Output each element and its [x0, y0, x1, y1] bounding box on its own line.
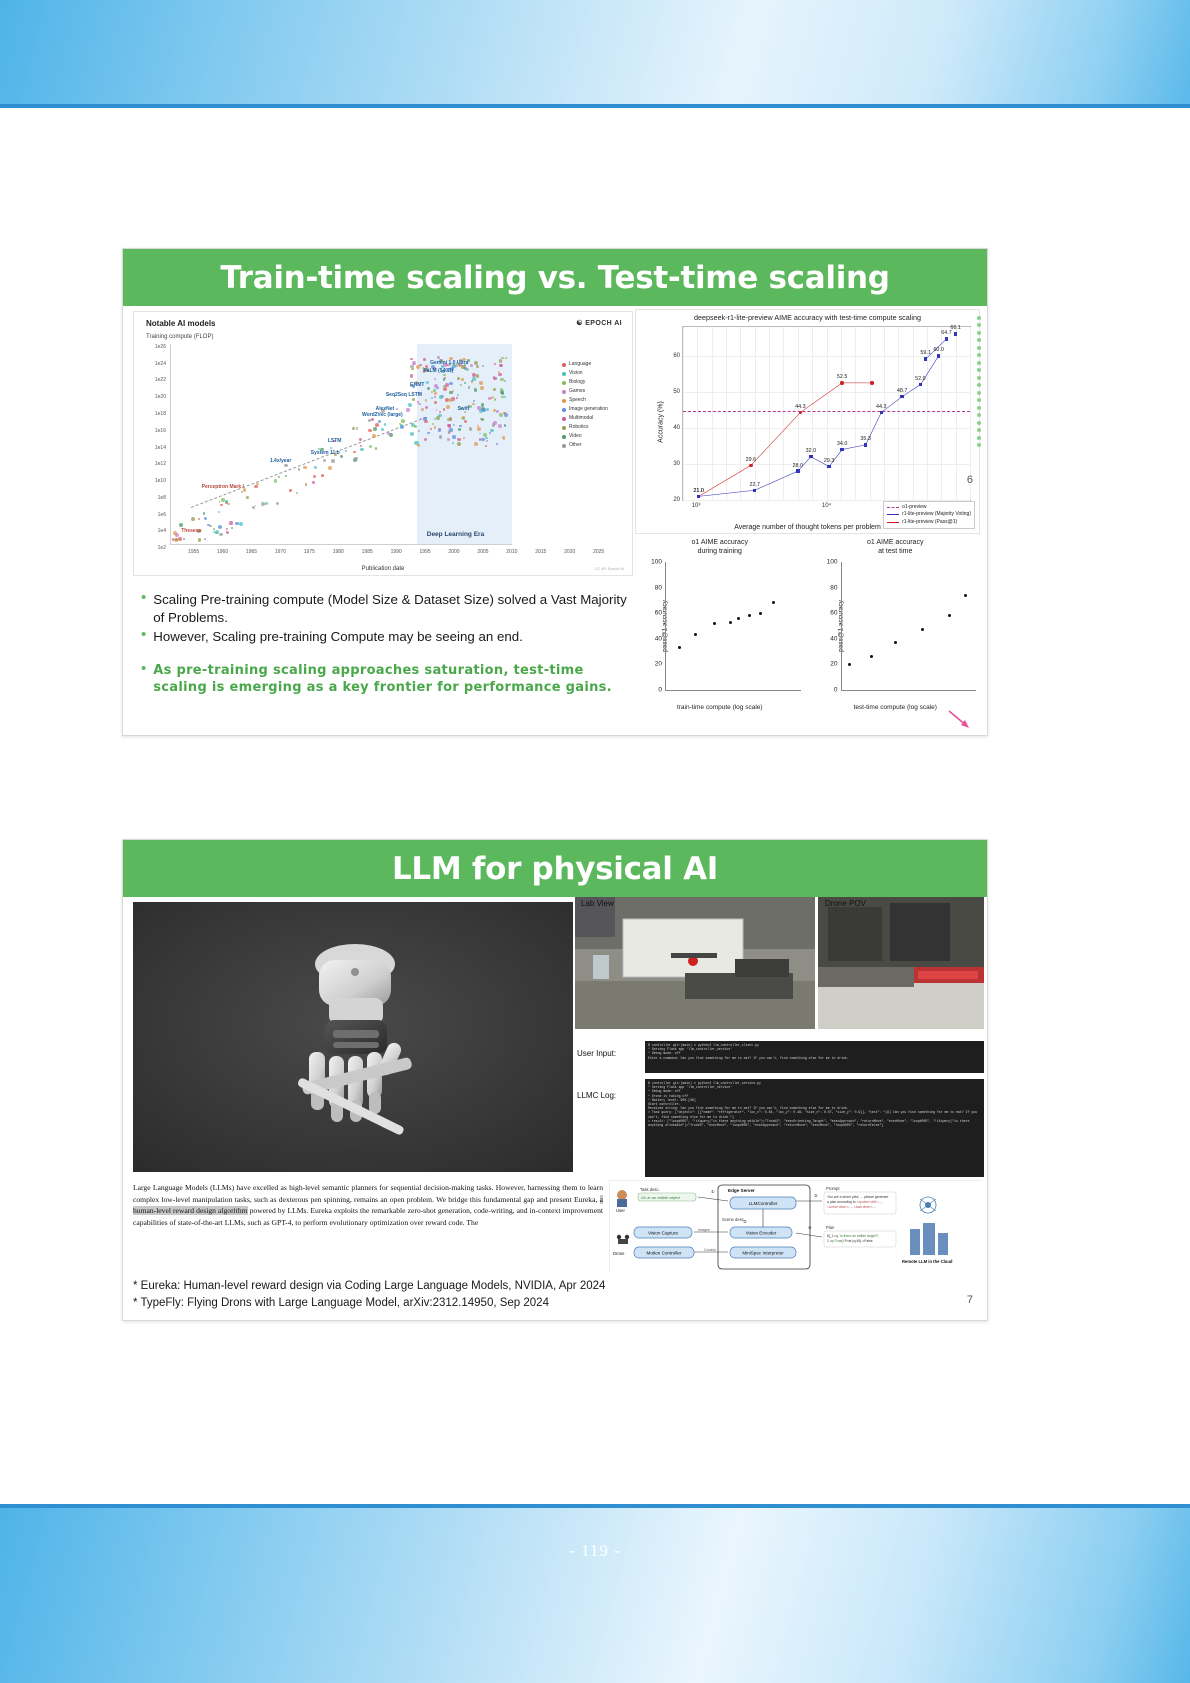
epoch-y-tick: 1e16	[155, 428, 166, 434]
deepseek-y-axis-label: Accuracy (%)	[657, 401, 664, 443]
epoch-legend-item: Video	[562, 432, 626, 441]
epoch-data-point	[226, 531, 229, 534]
epoch-data-point	[476, 374, 480, 378]
epoch-data-point	[369, 445, 372, 448]
epoch-data-point	[411, 368, 414, 371]
legend-color-dot	[562, 363, 566, 367]
typefly-system-diagram: Edge Server LLMController Vision Encoder…	[609, 1180, 981, 1272]
epoch-data-point	[239, 522, 243, 526]
epoch-data-point	[427, 432, 430, 435]
epoch-data-point	[477, 425, 479, 427]
bullet-dot-icon: •	[141, 591, 146, 604]
svg-text:Scene desc.: Scene desc.	[722, 1217, 745, 1222]
o1-y-tick: 100	[651, 559, 662, 566]
epoch-data-point	[375, 423, 379, 427]
epoch-data-point	[472, 403, 474, 405]
epoch-x-tick: 1970	[275, 549, 286, 555]
epoch-data-point	[496, 410, 499, 413]
epoch-data-point	[372, 434, 376, 438]
svg-text:Control: Control	[704, 1248, 716, 1252]
epoch-y-tick-labels: 1e261e241e221e201e181e161e141e121e101e81…	[140, 344, 168, 545]
epoch-data-point	[410, 365, 413, 368]
slide1-body: Notable AI models Training compute (FLOP…	[123, 306, 987, 735]
o1-y-tick: 0	[834, 687, 838, 694]
bullet-dot-icon: •	[141, 628, 146, 641]
llmc-log-label: LLMC Log:	[577, 1091, 616, 1100]
o1-data-point	[713, 622, 716, 625]
epoch-data-point	[470, 364, 473, 367]
deepseek-y-tick: 50	[673, 389, 680, 395]
slide1-title: Train-time scaling vs. Test-time scaling	[220, 260, 889, 296]
data-point	[870, 381, 873, 384]
epoch-data-point	[437, 356, 440, 359]
o1-chart-title: o1 AIME accuracyat test time	[811, 538, 981, 556]
data-point	[937, 354, 940, 357]
deepseek-y-tick: 40	[673, 425, 680, 431]
epoch-data-point	[462, 417, 465, 420]
epoch-data-point	[353, 451, 355, 453]
deep-learning-era-label: Deep Learning Era	[427, 531, 484, 538]
epoch-data-point	[504, 424, 506, 426]
epoch-data-point	[492, 396, 494, 398]
epoch-x-tick: 1965	[246, 549, 257, 555]
epoch-data-point	[219, 533, 223, 537]
epoch-data-point	[198, 538, 202, 542]
deepseek-y-tick: 60	[673, 353, 680, 359]
epoch-data-point	[213, 531, 215, 533]
data-point	[954, 332, 957, 335]
epoch-data-point	[312, 481, 315, 484]
epoch-data-point	[499, 364, 502, 367]
drone-pov-photo	[818, 897, 984, 1029]
deepseek-legend-item: o1-preview	[887, 504, 971, 512]
o1-data-point	[678, 646, 681, 649]
slide2-body: Lab View Drone POV User Input: $ control…	[123, 897, 987, 1320]
epoch-y-tick: 1e2	[158, 545, 166, 551]
svg-text:Plan: Plan	[826, 1225, 835, 1230]
data-point-label: 52.0	[915, 376, 926, 382]
o1-data-point	[964, 594, 967, 597]
drone-pov-label: Drone POV	[825, 899, 866, 908]
epoch-data-point	[482, 408, 486, 412]
epoch-annotation: LSTM	[328, 438, 342, 444]
epoch-data-point	[479, 381, 483, 385]
svg-text:Go to an edible object: Go to an edible object	[641, 1195, 681, 1200]
epoch-data-point	[387, 432, 389, 434]
epoch-data-point	[485, 437, 487, 439]
epoch-data-point	[179, 523, 183, 527]
data-point	[919, 383, 922, 386]
epoch-data-point	[203, 512, 205, 514]
svg-text:Drone: Drone	[613, 1251, 625, 1256]
data-point-label: 52.5	[837, 374, 848, 380]
epoch-ai-logo: ☯ EPOCH AI	[576, 319, 622, 327]
epoch-data-point	[457, 442, 461, 446]
epoch-data-point	[254, 485, 257, 488]
epoch-x-tick: 2015	[535, 549, 546, 555]
deepseek-aime-test-time-chart: deepseek-r1-lite-preview AIME accuracy w…	[635, 309, 980, 534]
epoch-data-point	[457, 377, 460, 380]
epoch-data-point	[296, 492, 298, 494]
epoch-annotation: Theseus	[181, 528, 201, 534]
epoch-data-point	[178, 537, 182, 541]
epoch-y-tick: 1e22	[155, 377, 166, 383]
o1-x-axis-label: train-time compute (log scale)	[635, 704, 805, 711]
epoch-data-point	[328, 466, 332, 470]
svg-text:MiniSpec Interpreter: MiniSpec Interpreter	[742, 1251, 784, 1256]
epoch-data-point	[424, 438, 427, 441]
epoch-data-point	[396, 408, 398, 410]
epoch-annotation: Swift	[457, 406, 469, 412]
epoch-data-point	[373, 427, 377, 431]
o1-chart-title-line1: o1 AIME accuracy	[635, 538, 805, 547]
bullet-text: However, Scaling pre-training Compute ma…	[153, 628, 523, 646]
lab-view-photo	[575, 897, 815, 1029]
epoch-x-tick: 2025	[593, 549, 604, 555]
epoch-y-tick: 1e20	[155, 394, 166, 400]
epoch-data-point	[219, 501, 221, 503]
epoch-data-point	[410, 432, 414, 436]
epoch-x-tick: 1980	[333, 549, 344, 555]
epoch-y-tick: 1e4	[158, 528, 166, 534]
o1-accuracy-chart: o1 AIME accuracyduring trainingpass@1 ac…	[635, 538, 805, 713]
epoch-data-point	[434, 378, 436, 380]
legend-color-dot	[562, 435, 566, 439]
epoch-y-tick: 1e10	[155, 478, 166, 484]
epoch-data-point	[274, 479, 277, 482]
epoch-data-point	[368, 429, 371, 432]
epoch-data-point	[496, 443, 498, 445]
svg-text:②: ②	[814, 1193, 818, 1198]
epoch-data-point	[321, 474, 324, 477]
deepseek-legend: o1-previewr1-lite-preview (Majority Voti…	[883, 501, 975, 530]
epoch-annotation: System 11 b	[311, 450, 340, 456]
data-point-label: 22.7	[750, 482, 761, 488]
slide2-footnotes: * Eureka: Human-level reward design via …	[133, 1278, 833, 1312]
data-point-label: 66.1	[950, 325, 961, 331]
epoch-data-point	[410, 358, 412, 360]
epoch-data-point	[226, 528, 228, 530]
epoch-x-tick: 2020	[564, 549, 575, 555]
legend-label: Language	[569, 360, 591, 369]
epoch-data-point	[423, 417, 426, 420]
epoch-data-point	[448, 430, 451, 433]
epoch-legend-item: Biology	[562, 378, 626, 387]
o1-y-tick: 40	[655, 635, 662, 642]
epoch-data-point	[360, 445, 362, 447]
o1-accuracy-chart: o1 AIME accuracyat test timepass@1 accur…	[811, 538, 981, 713]
svg-text:Edge Server: Edge Server	[728, 1188, 755, 1193]
epoch-data-point	[220, 504, 222, 506]
bullet-item: •However, Scaling pre-training Compute m…	[141, 628, 641, 646]
epoch-annotation: Seq2Seq LSTM	[386, 392, 422, 398]
bullet-text: As pre-training scaling approaches satur…	[153, 662, 641, 697]
data-point-label: 60.0	[933, 347, 944, 353]
epoch-data-point	[356, 428, 358, 430]
epoch-data-point	[464, 420, 467, 423]
data-point-label: 35.3	[860, 436, 871, 442]
slide1-page-label: 6	[967, 474, 973, 486]
o1-y-tick: 100	[827, 559, 838, 566]
epoch-x-tick: 1955	[188, 549, 199, 555]
epoch-data-point	[463, 437, 465, 439]
footnote-line: * TypeFly: Flying Drons with Large Langu…	[133, 1295, 833, 1312]
epoch-data-point	[477, 427, 481, 431]
slide2-header: LLM for physical AI	[123, 840, 987, 897]
epoch-data-point	[323, 459, 327, 463]
page-top-divider	[0, 104, 1190, 108]
deepseek-y-tick: 20	[673, 497, 680, 503]
eureka-abstract-body: Large Language Models (LLMs) have excell…	[133, 1183, 603, 1227]
user-input-label: User Input:	[577, 1049, 616, 1058]
legend-color-dot	[562, 426, 566, 430]
data-point	[945, 337, 948, 340]
epoch-x-tick-labels: 1955196019651970197519801985199019952000…	[170, 549, 622, 559]
svg-text:a plan according to <system sk: a plan according to <system skill>:...,	[827, 1200, 883, 1204]
epoch-data-point	[417, 444, 420, 447]
abstract-highlight: a human-level reward design algorithm	[133, 1195, 603, 1216]
epoch-data-point	[433, 389, 435, 391]
epoch-x-tick: 2005	[477, 549, 488, 555]
epoch-legend-item: Vision	[562, 369, 626, 378]
slide2-title: LLM for physical AI	[392, 851, 718, 887]
o1-chart-title: o1 AIME accuracyduring training	[635, 538, 805, 556]
o1-plot-area: 020406080100	[665, 562, 801, 691]
bullet-dot-icon: •	[141, 662, 146, 675]
epoch-data-point	[446, 405, 450, 409]
epoch-y-tick: 1e12	[155, 461, 166, 467]
epoch-data-point	[284, 464, 288, 468]
epoch-data-point	[331, 459, 335, 463]
epoch-data-point	[303, 466, 307, 470]
epoch-data-point	[500, 388, 503, 391]
epoch-data-point	[426, 381, 429, 384]
epoch-data-point	[458, 428, 461, 431]
legend-label: r1-lite-preview (Majority Voting)	[902, 511, 971, 519]
epoch-data-point	[384, 423, 387, 426]
epoch-legend-item: Games	[562, 387, 626, 396]
svg-text:Images: Images	[698, 1228, 710, 1232]
o1-y-tick: 0	[658, 687, 662, 694]
epoch-data-point	[204, 538, 206, 540]
legend-label: Video	[569, 432, 582, 441]
epoch-data-point	[420, 418, 422, 420]
epoch-data-point	[423, 358, 425, 360]
page-top-decorative-band	[0, 0, 1190, 104]
slide-train-time-vs-test-time: Train-time scaling vs. Test-time scaling…	[122, 248, 988, 736]
epoch-data-point	[276, 502, 279, 505]
epoch-data-point	[498, 424, 502, 428]
epoch-data-point	[285, 475, 287, 477]
epoch-y-tick: 1e14	[155, 445, 166, 451]
epoch-data-point	[305, 483, 307, 485]
epoch-data-point	[381, 428, 384, 431]
o1-data-point	[772, 601, 775, 604]
epoch-legend-item: Multimodal	[562, 414, 626, 423]
data-point	[924, 357, 927, 360]
epoch-x-tick: 1985	[362, 549, 373, 555]
epoch-data-point	[389, 433, 393, 437]
data-point	[796, 469, 799, 472]
o1-y-tick: 80	[830, 584, 837, 591]
o1-data-point	[848, 663, 851, 666]
epoch-data-point	[447, 418, 451, 422]
legend-swatch	[887, 522, 899, 523]
data-point-label: 32.0	[806, 448, 817, 454]
deepseek-legend-item: r1-lite-preview (Pass@1)	[887, 519, 971, 527]
robot-hand-pen-spinning-image	[133, 902, 573, 1172]
o1-data-point	[737, 617, 740, 620]
epoch-data-point	[265, 502, 267, 504]
epoch-data-point	[207, 524, 209, 526]
epoch-data-point	[486, 408, 489, 411]
bullet-text: Scaling Pre-training compute (Model Size…	[153, 591, 641, 626]
o1-data-point	[729, 621, 732, 624]
data-point-label: 29.6	[746, 457, 757, 463]
legend-color-dot	[562, 408, 566, 412]
epoch-x-tick: 2000	[448, 549, 459, 555]
data-point-label: 34.0	[837, 441, 848, 447]
epoch-data-point	[434, 392, 437, 395]
user-input-terminal: $ controller git:(main) x python3 llm_co…	[645, 1041, 984, 1073]
epoch-data-point	[204, 517, 207, 520]
epoch-x-axis-title: Publication date	[134, 566, 632, 572]
o1-data-point	[894, 641, 897, 644]
epoch-data-point	[412, 398, 415, 401]
slide-llm-for-physical-ai: LLM for physical AI	[122, 839, 988, 1321]
epoch-plot-area: Deep Learning Era Gemini 1.0 UltraPaLM (…	[170, 344, 512, 545]
svg-text:Prompt: Prompt	[826, 1186, 840, 1191]
epoch-x-tick: 1960	[217, 549, 228, 555]
epoch-data-point	[252, 506, 255, 509]
epoch-data-point	[313, 475, 316, 478]
slide1-header: Train-time scaling vs. Test-time scaling	[123, 249, 987, 306]
data-point	[880, 411, 883, 414]
svg-text:Remote LLM in the Cloud: Remote LLM in the Cloud	[902, 1259, 953, 1264]
epoch-x-tick: 1990	[391, 549, 402, 555]
epoch-data-point	[314, 466, 317, 469]
epoch-legend: LanguageVisionBiologyGamesSpeechImage ge…	[562, 360, 626, 450]
epoch-legend-item: Robotics	[562, 423, 626, 432]
legend-label: Other	[569, 441, 582, 450]
epoch-data-point	[371, 418, 374, 421]
epoch-data-point	[183, 538, 185, 540]
data-point-label: 29.3	[824, 458, 835, 464]
svg-text:Vision Capture: Vision Capture	[648, 1231, 678, 1236]
o1-y-tick: 40	[830, 635, 837, 642]
epoch-data-point	[439, 435, 442, 438]
epoch-data-point	[434, 426, 436, 428]
epoch-annotation: Perceptron Mark I	[202, 484, 244, 490]
epoch-y-tick: 1e6	[158, 512, 166, 518]
legend-color-dot	[562, 417, 566, 421]
legend-label: o1-preview	[902, 504, 926, 512]
svg-text:8{_1=q, 'is there an edible ta: 8{_1=q, 'is there an edible target?';	[827, 1234, 879, 1238]
slide2-page-label: 7	[967, 1294, 973, 1306]
epoch-data-point	[175, 538, 178, 541]
o1-data-point	[694, 633, 697, 636]
o1-y-tick: 60	[830, 610, 837, 617]
o1-y-tick: 20	[830, 661, 837, 668]
data-point	[749, 464, 752, 467]
data-point	[753, 489, 756, 492]
svg-text:④: ④	[808, 1225, 812, 1230]
o1-data-point	[870, 655, 873, 658]
epoch-data-point	[345, 450, 347, 452]
epoch-data-point	[352, 427, 355, 430]
svg-text:<scene desc>:..., <task desc>:: <scene desc>:..., <task desc>:...	[827, 1205, 876, 1209]
page-bottom-divider	[0, 1504, 1190, 1508]
deepseek-x-tick: 10³	[692, 503, 701, 509]
data-point-label: 59.1	[920, 350, 931, 356]
legend-label: Biology	[569, 378, 585, 387]
epoch-legend-item: Language	[562, 360, 626, 369]
epoch-data-point	[198, 518, 200, 520]
epoch-data-point	[360, 448, 363, 451]
epoch-data-point	[256, 483, 259, 486]
legend-label: Speech	[569, 396, 586, 405]
svg-text:Task desc.: Task desc.	[640, 1187, 660, 1192]
epoch-data-point	[505, 357, 507, 359]
epoch-data-point	[449, 382, 453, 386]
data-point	[840, 381, 843, 384]
svg-text:User: User	[616, 1208, 625, 1213]
epoch-data-point	[225, 500, 227, 502]
legend-color-dot	[562, 390, 566, 394]
slide1-side-dots	[976, 312, 984, 451]
legend-color-dot	[562, 399, 566, 403]
epoch-data-point	[340, 455, 343, 458]
epoch-data-point	[425, 399, 428, 402]
epoch-legend-item: Other	[562, 441, 626, 450]
o1-data-point	[948, 614, 951, 617]
epoch-data-point	[504, 380, 506, 382]
epoch-data-point	[493, 421, 496, 424]
footnote-line: * Eureka: Human-level reward design via …	[133, 1278, 833, 1295]
epoch-data-point	[427, 387, 430, 390]
epoch-y-tick: 1e18	[155, 411, 166, 417]
epoch-annotation: Word2Vec (large)	[362, 412, 403, 418]
epoch-data-point	[459, 425, 462, 428]
o1-y-tick: 80	[655, 584, 662, 591]
epoch-y-tick: 1e26	[155, 344, 166, 350]
epoch-x-tick: 1995	[420, 549, 431, 555]
epoch-data-point	[469, 427, 472, 430]
epoch-x-tick: 2010	[506, 549, 517, 555]
epoch-x-tick: 1975	[304, 549, 315, 555]
data-point-label: 21.0	[693, 488, 704, 494]
epoch-data-point	[408, 403, 412, 407]
epoch-data-point	[229, 521, 232, 524]
legend-label: Image generation	[569, 405, 608, 414]
epoch-data-point	[298, 468, 300, 470]
epoch-data-point	[400, 424, 403, 427]
epoch-data-point	[246, 496, 249, 499]
o1-aime-charts: o1 AIME accuracyduring trainingpass@1 ac…	[635, 538, 980, 713]
data-point	[840, 448, 843, 451]
epoch-data-point	[501, 396, 503, 398]
o1-data-point	[921, 628, 924, 631]
data-point-label: 48.7	[897, 388, 908, 394]
legend-color-dot	[562, 372, 566, 376]
epoch-data-point	[434, 384, 438, 388]
lab-view-label: Lab View	[581, 899, 614, 908]
epoch-annotation: PaLM (540B)	[423, 368, 453, 374]
llmc-log-terminal: $ controller git:(main) x python3 llm_co…	[645, 1079, 984, 1177]
svg-text:①: ①	[711, 1189, 715, 1194]
legend-swatch	[887, 514, 899, 515]
o1-chart-title-line2: at test time	[811, 547, 981, 556]
